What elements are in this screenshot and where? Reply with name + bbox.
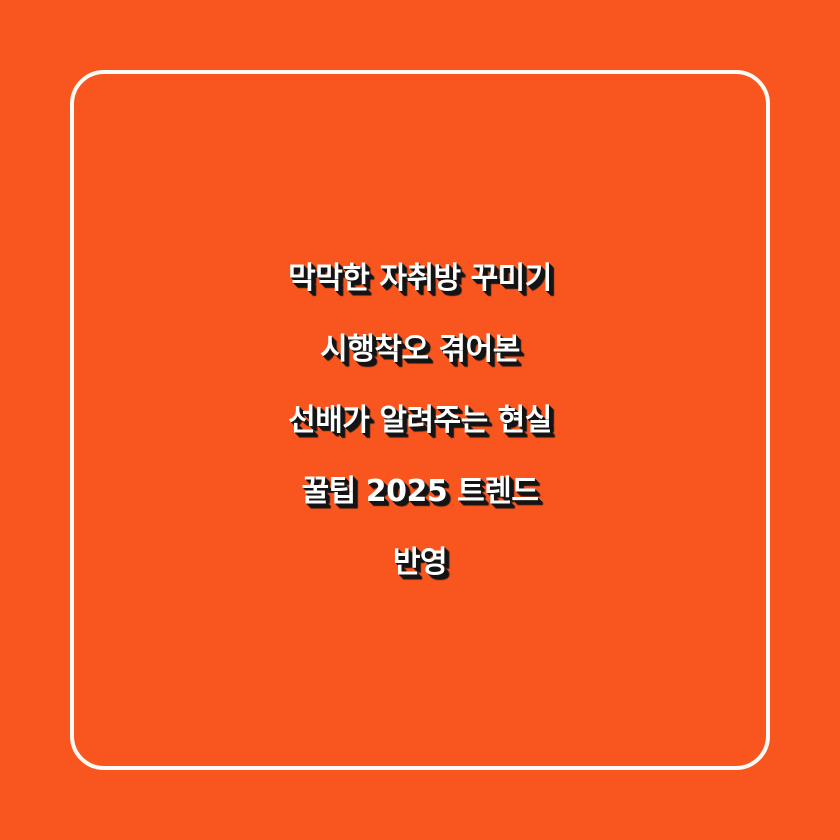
headline-line-1: 막막한 자취방 꾸미기	[76, 243, 764, 314]
headline-line-3: 선배가 알려주는 현실	[76, 385, 764, 456]
headline-line-4: 꿀팁 2025 트렌드	[76, 456, 764, 527]
headline-text-block: 막막한 자취방 꾸미기 시행착오 겪어본 선배가 알려주는 현실 꿀팁 2025…	[0, 0, 840, 840]
poster-canvas: 막막한 자취방 꾸미기 시행착오 겪어본 선배가 알려주는 현실 꿀팁 2025…	[0, 0, 840, 840]
headline-line-2: 시행착오 겪어본	[76, 314, 764, 385]
headline-line-5: 반영	[76, 527, 764, 598]
